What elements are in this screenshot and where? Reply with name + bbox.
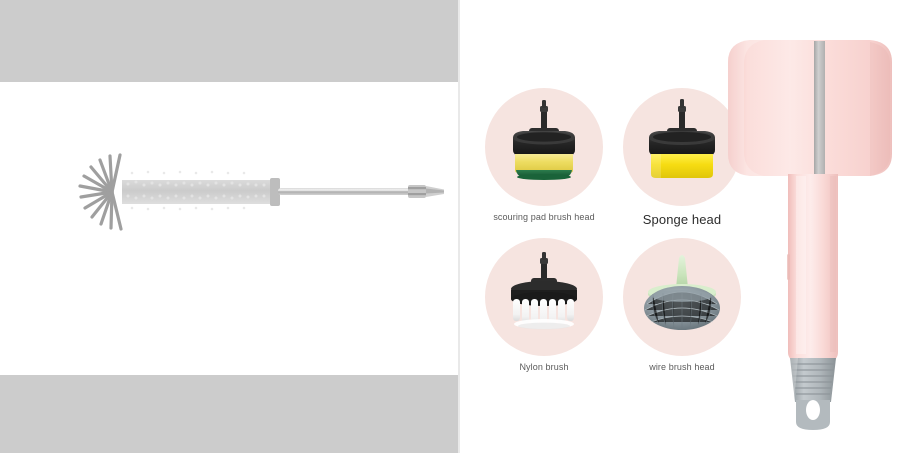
attachment-card-scouring-pad[interactable]: scouring pad brush head <box>478 88 610 238</box>
letterbox-bar-bottom <box>0 375 458 453</box>
handheld-electric-brush-icon <box>710 18 910 438</box>
attachment-disc <box>485 238 603 356</box>
attachment-grid: scouring pad brush head <box>478 88 748 388</box>
attachment-disc <box>485 88 603 206</box>
attachment-card-nylon-brush[interactable]: Nylon brush <box>478 238 610 388</box>
scouring-pad-head-icon <box>485 88 603 206</box>
product-gallery-stage: scouring pad brush head <box>0 0 919 453</box>
attachment-label: wire brush head <box>649 363 715 373</box>
letterbox-bar-top <box>0 0 458 82</box>
right-product-panel: scouring pad brush head <box>460 0 919 453</box>
left-product-panel <box>0 0 458 453</box>
attachment-label: scouring pad brush head <box>493 213 594 223</box>
nylon-brush-icon <box>485 238 603 356</box>
attachment-label: Nylon brush <box>519 363 568 373</box>
bottle-brush-icon <box>78 140 448 245</box>
